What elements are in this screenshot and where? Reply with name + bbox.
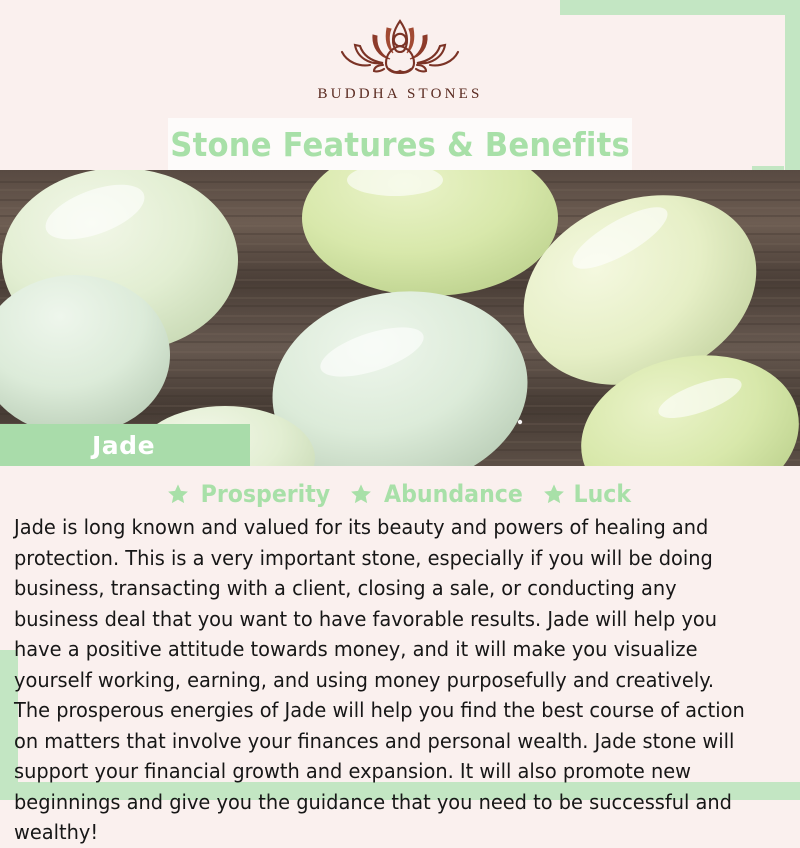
benefit-item: Luck [543,480,634,508]
star-icon [167,483,189,505]
benefit-item: Prosperity [167,480,336,508]
benefit-label: Prosperity [200,480,330,508]
jade-stones-photo [0,170,800,466]
jade-stones-illustration [0,170,800,466]
brand-logo-area: BUDDHA STONES [0,0,800,118]
star-icon [350,483,372,505]
star-icon [543,483,565,505]
stone-description: Jade is long known and valued for its be… [14,512,745,848]
brand-wordmark: BUDDHA STONES [317,86,482,103]
benefit-label: Luck [573,480,631,508]
stone-name-banner: Jade [0,424,250,466]
benefit-label: Abundance [384,480,523,508]
benefits-row: Prosperity Abundance Luck [0,478,800,510]
title-banner: Stone Features & Benefits [168,118,632,170]
lotus-meditation-icon [325,15,475,81]
stone-name-label: Jade [92,431,155,460]
benefit-item: Abundance [350,480,529,508]
page-title: Stone Features & Benefits [170,125,630,164]
